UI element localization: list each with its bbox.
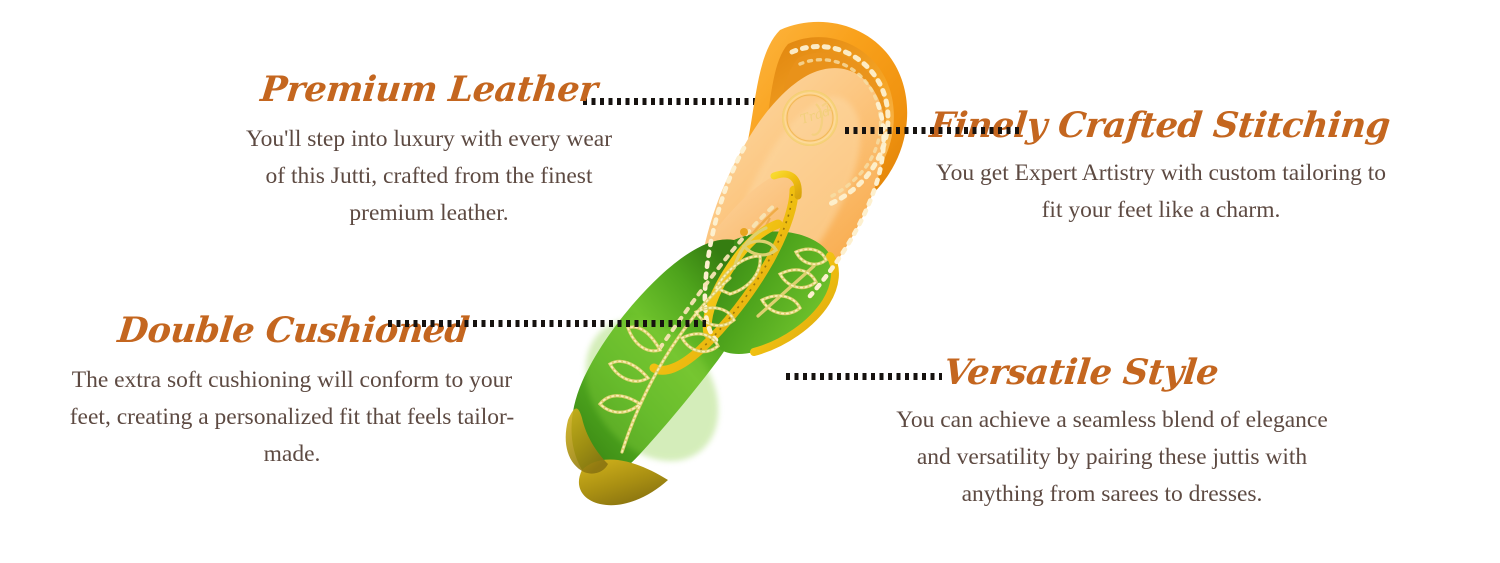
- feature-body-double-cushioned: The extra soft cushioning will conform t…: [58, 362, 526, 473]
- infographic-canvas: Trad: [0, 0, 1500, 563]
- feature-callout-versatile-style: Versatile Style You can achieve a seamle…: [878, 355, 1346, 513]
- insole-brand-stamp: Trad: [782, 90, 838, 146]
- leader-line-double-cushioned: [388, 320, 706, 327]
- feature-heading-double-cushioned: Double Cushioned: [56, 313, 528, 348]
- feature-body-finely-crafted-stitching: You get Expert Artistry with custom tail…: [930, 155, 1392, 229]
- leader-line-versatile-style: [786, 373, 942, 380]
- shoe-vamp-knot: [740, 228, 748, 236]
- feature-body-versatile-style: You can achieve a seamless blend of eleg…: [878, 402, 1346, 513]
- product-shoe-image: Trad: [548, 0, 948, 545]
- feature-callout-double-cushioned: Double Cushioned The extra soft cushioni…: [58, 313, 526, 473]
- leader-line-finely-crafted-stitching: [845, 127, 1023, 134]
- feature-heading-finely-crafted-stitching: Finely Crafted Stitching: [928, 108, 1394, 143]
